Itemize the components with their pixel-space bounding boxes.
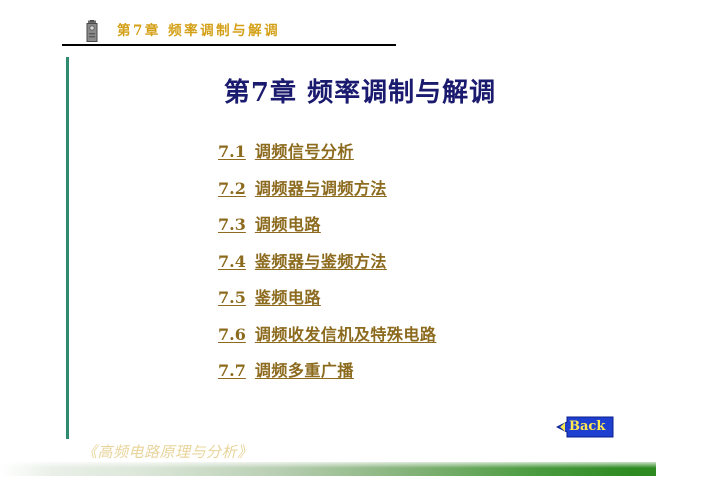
toc-item-7-3[interactable]: 7.3调频电路 [218,215,638,235]
page-title: 第7章 频率调制与解调 [0,76,702,110]
toc-item-label: 调频收发信机及特殊电路 [255,325,437,344]
toc-item-7-6[interactable]: 7.6调频收发信机及特殊电路 [218,325,638,345]
toc-item-number: 7.5 [218,288,246,307]
toc-item-7-1[interactable]: 7.1调频信号分析 [218,142,638,162]
slide-header: 第7章 频率调制与解调 [62,20,402,46]
toc-item-number: 7.2 [218,179,246,198]
toc-item-number: 7.1 [218,142,246,161]
toc-item-label: 调频电路 [255,215,321,234]
toc-item-7-7[interactable]: 7.7调频多重广播 [218,361,638,381]
toc-item-label: 调频信号分析 [255,142,354,161]
book-seal-icon [84,20,100,42]
header-divider [62,44,396,46]
toc-item-7-5[interactable]: 7.5鉴频电路 [218,288,638,308]
toc-item-label: 鉴频电路 [255,288,321,307]
toc-item-7-2[interactable]: 7.2调频器与调频方法 [218,179,638,199]
left-accent-line [66,57,69,439]
back-button-label: Back [556,416,614,438]
toc-item-number: 7.6 [218,325,246,344]
table-of-contents: 7.1调频信号分析 7.2调频器与调频方法 7.3调频电路 7.4鉴频器与鉴频方… [218,142,638,398]
toc-item-label: 调频多重广播 [255,361,354,380]
header-title: 第7章 频率调制与解调 [117,21,280,41]
slide: 第7章 频率调制与解调 第7章 频率调制与解调 7.1调频信号分析 7.2调频器… [0,0,702,496]
back-button[interactable]: Back [556,416,614,438]
toc-item-label: 鉴频器与鉴频方法 [255,252,387,271]
footer-title: 《高频电路原理与分析》 [82,441,253,462]
toc-item-number: 7.7 [218,361,246,380]
bottom-gradient-bar [0,462,656,476]
toc-item-number: 7.3 [218,215,246,234]
toc-item-number: 7.4 [218,252,246,271]
toc-item-label: 调频器与调频方法 [255,179,387,198]
toc-item-7-4[interactable]: 7.4鉴频器与鉴频方法 [218,252,638,272]
